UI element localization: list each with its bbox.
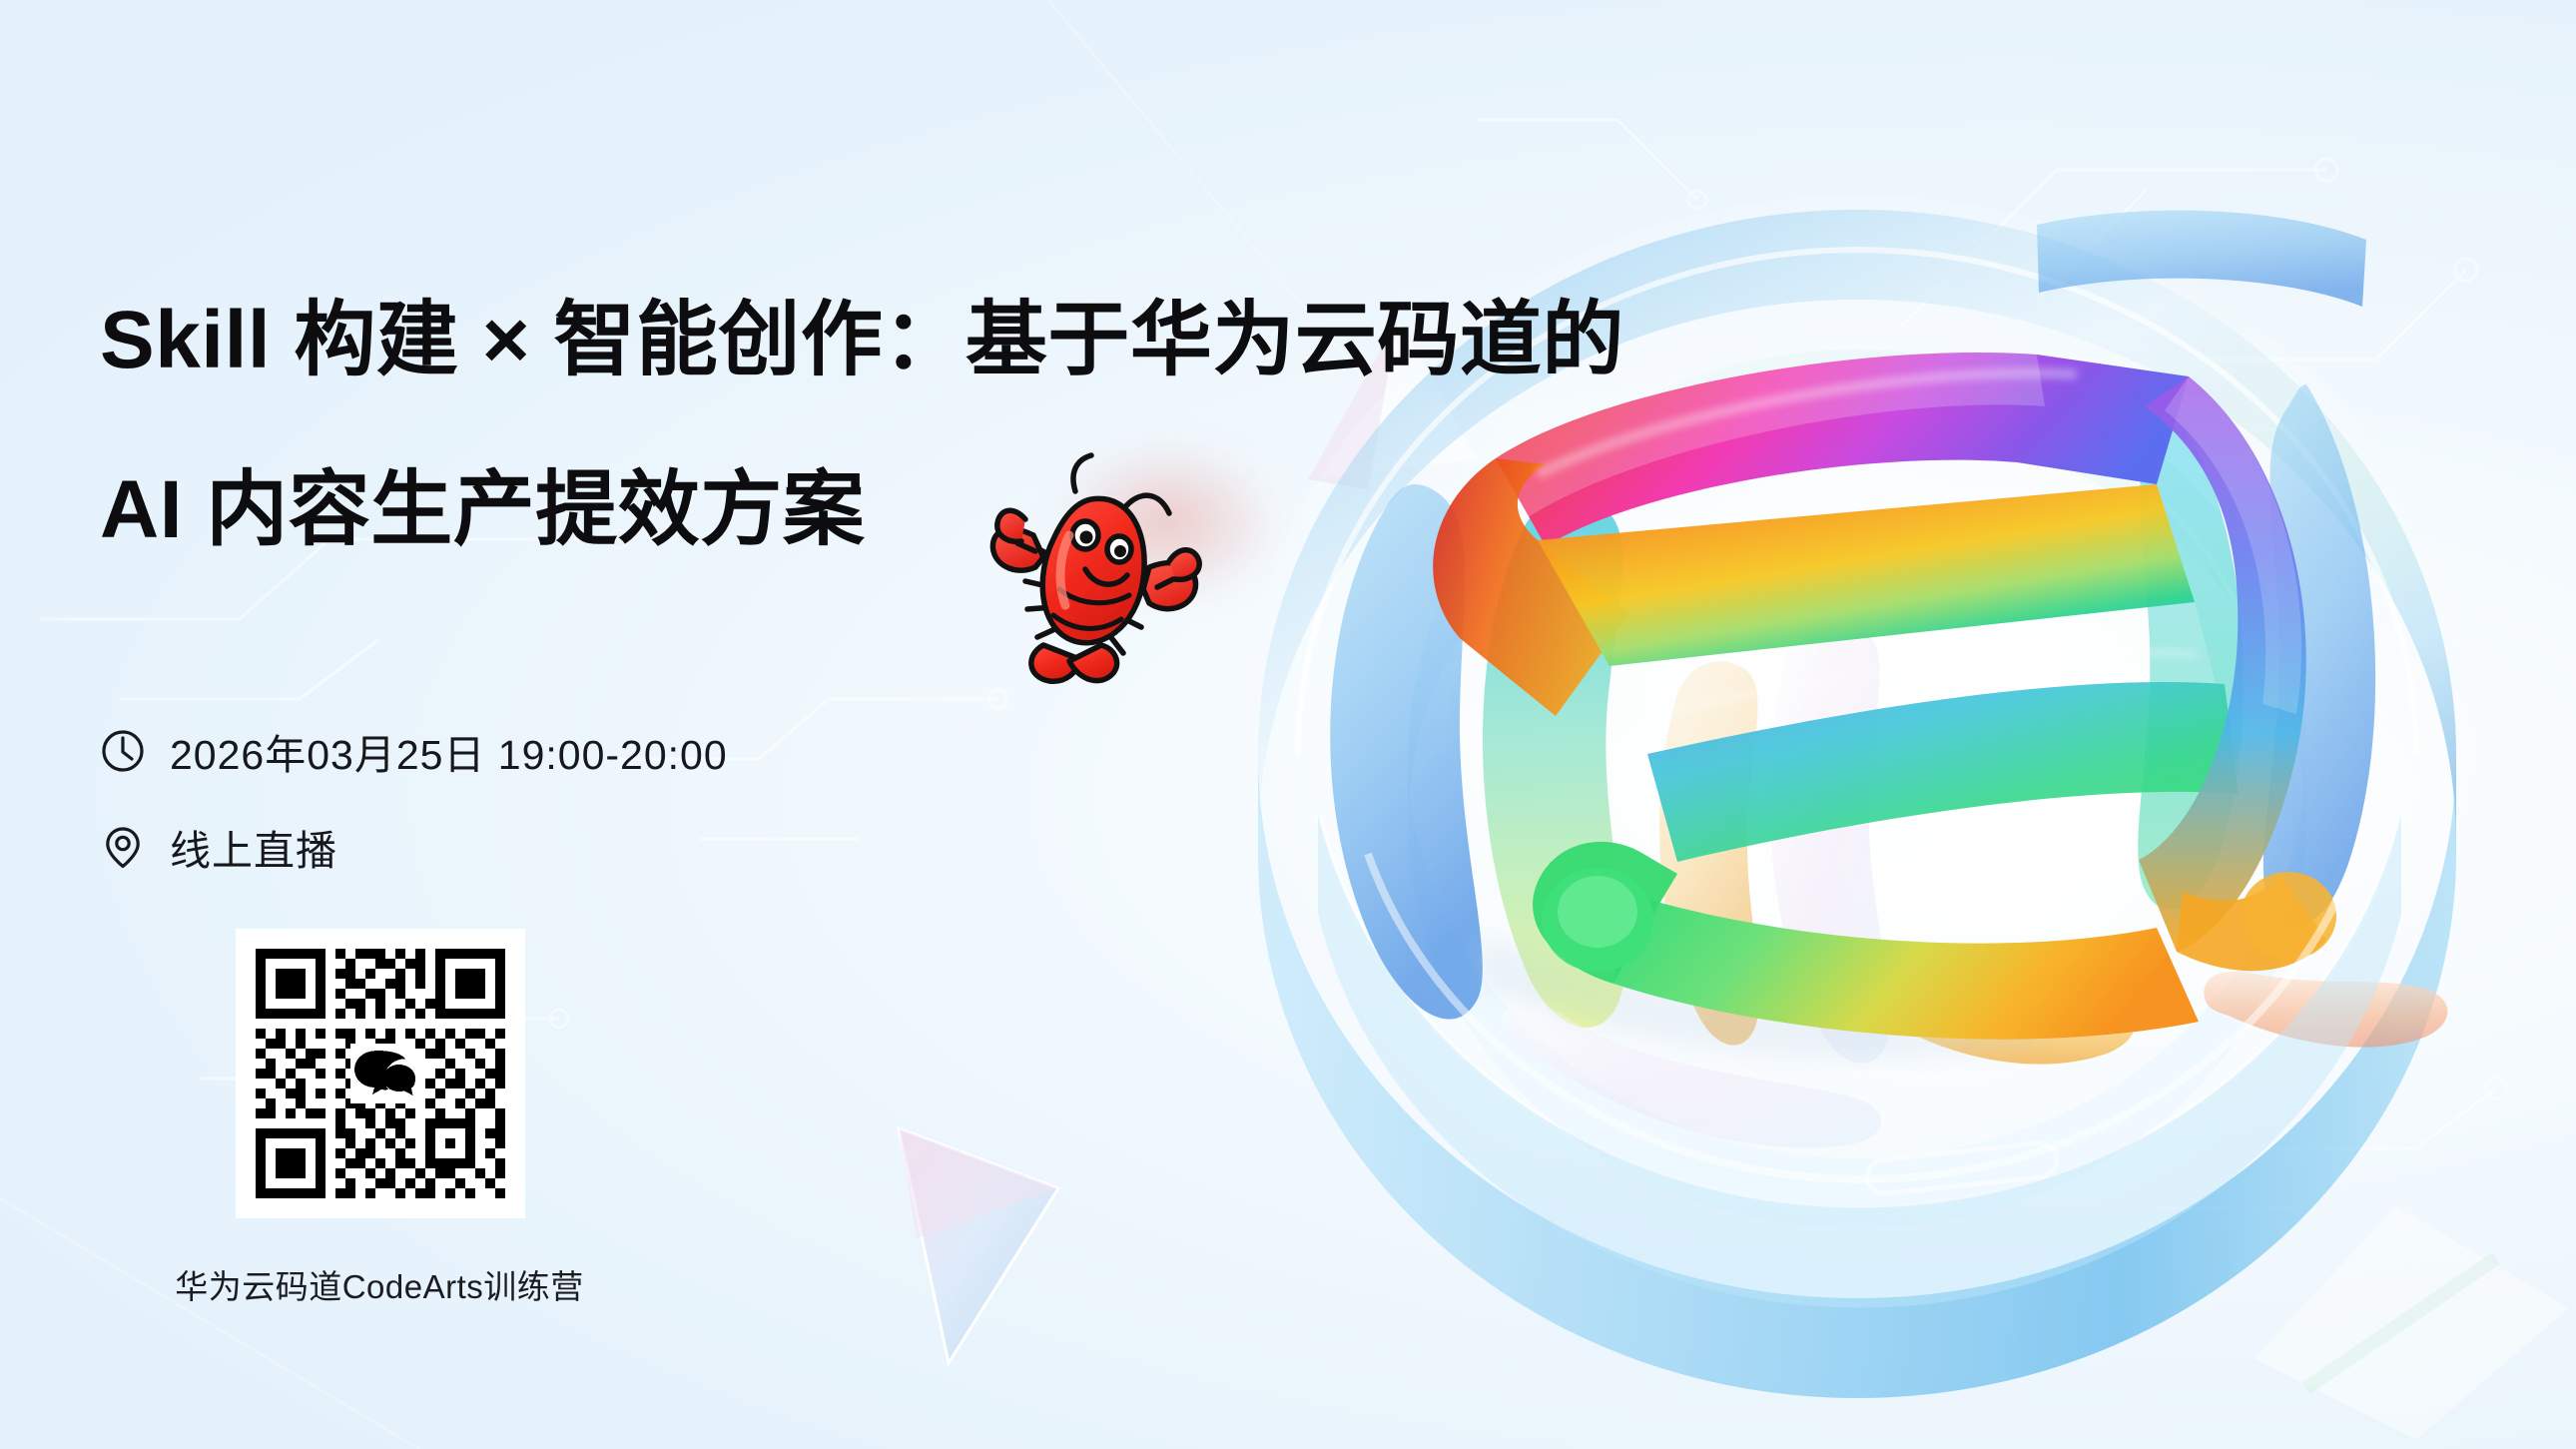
poster-canvas: Skill 构建 × 智能创作：基于华为云码道的 AI 内容生产提效方案 202… xyxy=(0,0,2576,1449)
qr-code-card[interactable] xyxy=(236,929,525,1218)
event-place-row: 线上直播 xyxy=(100,817,337,877)
glass-ring-inner xyxy=(1408,350,2306,1228)
hero-3d-glass-artwork xyxy=(1178,55,2576,1449)
clock-icon xyxy=(100,728,146,774)
glass-ring-outer xyxy=(1258,210,2456,1398)
glass-petal-group xyxy=(1330,384,2447,1147)
event-time-text: 2026年03月25日 19:00-20:00 xyxy=(170,721,728,781)
crayfish-lobster-mascot xyxy=(973,439,1223,689)
page-title-line-2: AI 内容生产提效方案 xyxy=(100,469,865,551)
page-title-line-1: Skill 构建 × 智能创作：基于华为云码道的 xyxy=(100,300,1624,381)
qr-code-image[interactable] xyxy=(236,929,525,1218)
poster-copy-block: Skill 构建 × 智能创作：基于华为云码道的 AI 内容生产提效方案 202… xyxy=(0,0,1178,1449)
qr-code-caption: 华为云码道CodeArts训练营 xyxy=(100,1260,659,1308)
location-pin-icon xyxy=(100,824,146,870)
glass-plane-bottom-right xyxy=(2247,1198,2576,1449)
rainbow-z-ribbon xyxy=(1433,353,2336,1060)
event-place-text: 线上直播 xyxy=(170,817,337,877)
glass-ring-front-overlay xyxy=(1318,814,2401,1307)
event-time-row: 2026年03月25日 19:00-20:00 xyxy=(100,721,728,781)
